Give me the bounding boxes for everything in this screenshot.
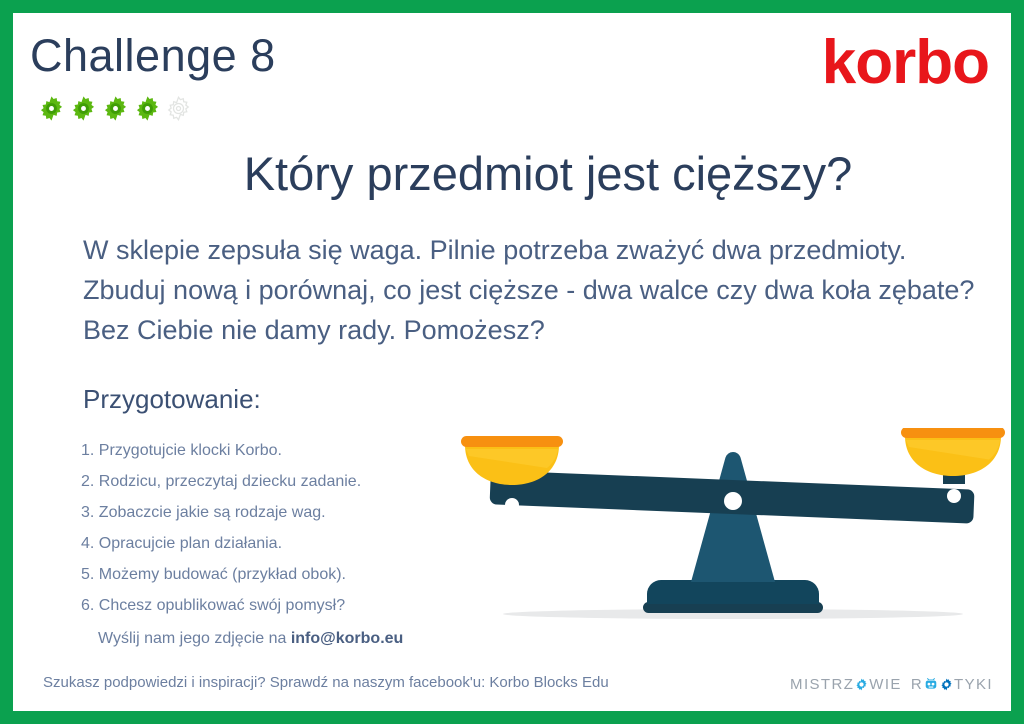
gear-icon-logo-1 [855,678,868,691]
gear-icon-filled-2 [70,95,97,122]
intro-line-1: W sklepie zepsuła się waga. Pilnie potrz… [83,230,953,270]
list-item: 6. Chcesz opublikować swój pomysł? [81,590,431,621]
mr-text-1: M [790,676,804,693]
mr-text-5: TYKI [954,676,993,693]
email-link[interactable]: info@korbo.eu [291,630,403,647]
mistrzowie-robotyki-logo: MISTRZ WIE R TY [790,676,993,693]
difficulty-rating [38,95,191,122]
email-line: Wyślij nam jego zdjęcie na info@korbo.eu [81,623,431,654]
list-item: 3. Zobaczcie jakie są rodzaje wag. [81,497,431,528]
scale-column [691,452,775,582]
challenge-question: Który przedmiot jest cięższy? [13,146,1011,201]
right-pan-rim [901,428,1005,438]
mr-text-3: WIE [869,676,902,693]
left-pan-rim [461,436,563,447]
robot-head-icon [924,678,938,691]
list-item: 4. Opracujcie plan działania. [81,528,431,559]
gear-icon-filled-3 [102,95,129,122]
base-plate-top [647,580,819,604]
preparation-heading: Przygotowanie: [83,384,261,415]
intro-line-3: Bez Ciebie nie damy rady. Pomożesz? [83,310,953,350]
intro-paragraph: W sklepie zepsuła się waga. Pilnie potrz… [83,230,953,350]
list-item: 2. Rodzicu, przeczytaj dziecku zadanie. [81,466,431,497]
right-pan [901,428,1005,476]
page-title: Challenge 8 [30,30,276,82]
preparation-list: 1. Przygotujcie klocki Korbo. 2. Rodzicu… [81,435,431,654]
email-prefix: Wyślij nam jego zdjęcie na [98,630,291,647]
left-pivot [505,498,519,512]
balance-scale-illustration [453,428,1013,633]
gear-icon-filled-1 [38,95,65,122]
list-item: 5. Możemy budować (przykład obok). [81,559,431,590]
footer-note: Szukasz podpowiedzi i inspiracji? Sprawd… [43,674,609,691]
center-pivot [724,492,742,510]
intro-line-2: Zbuduj nową i porównaj, co jest cięższe … [83,270,953,310]
gear-icon-empty-5 [166,96,191,121]
challenge-card: Challenge 8 [0,0,1024,724]
right-pivot [947,489,961,503]
list-item: 1. Przygotujcie klocki Korbo. [81,435,431,466]
mr-text-2: ISTRZ [804,676,854,693]
gear-icon-filled-4 [134,95,161,122]
gear-icon-logo-2 [940,678,953,691]
mr-text-4: R [911,676,923,693]
korbo-logo: korbo [822,32,989,94]
card-inner: Challenge 8 [13,13,1011,711]
